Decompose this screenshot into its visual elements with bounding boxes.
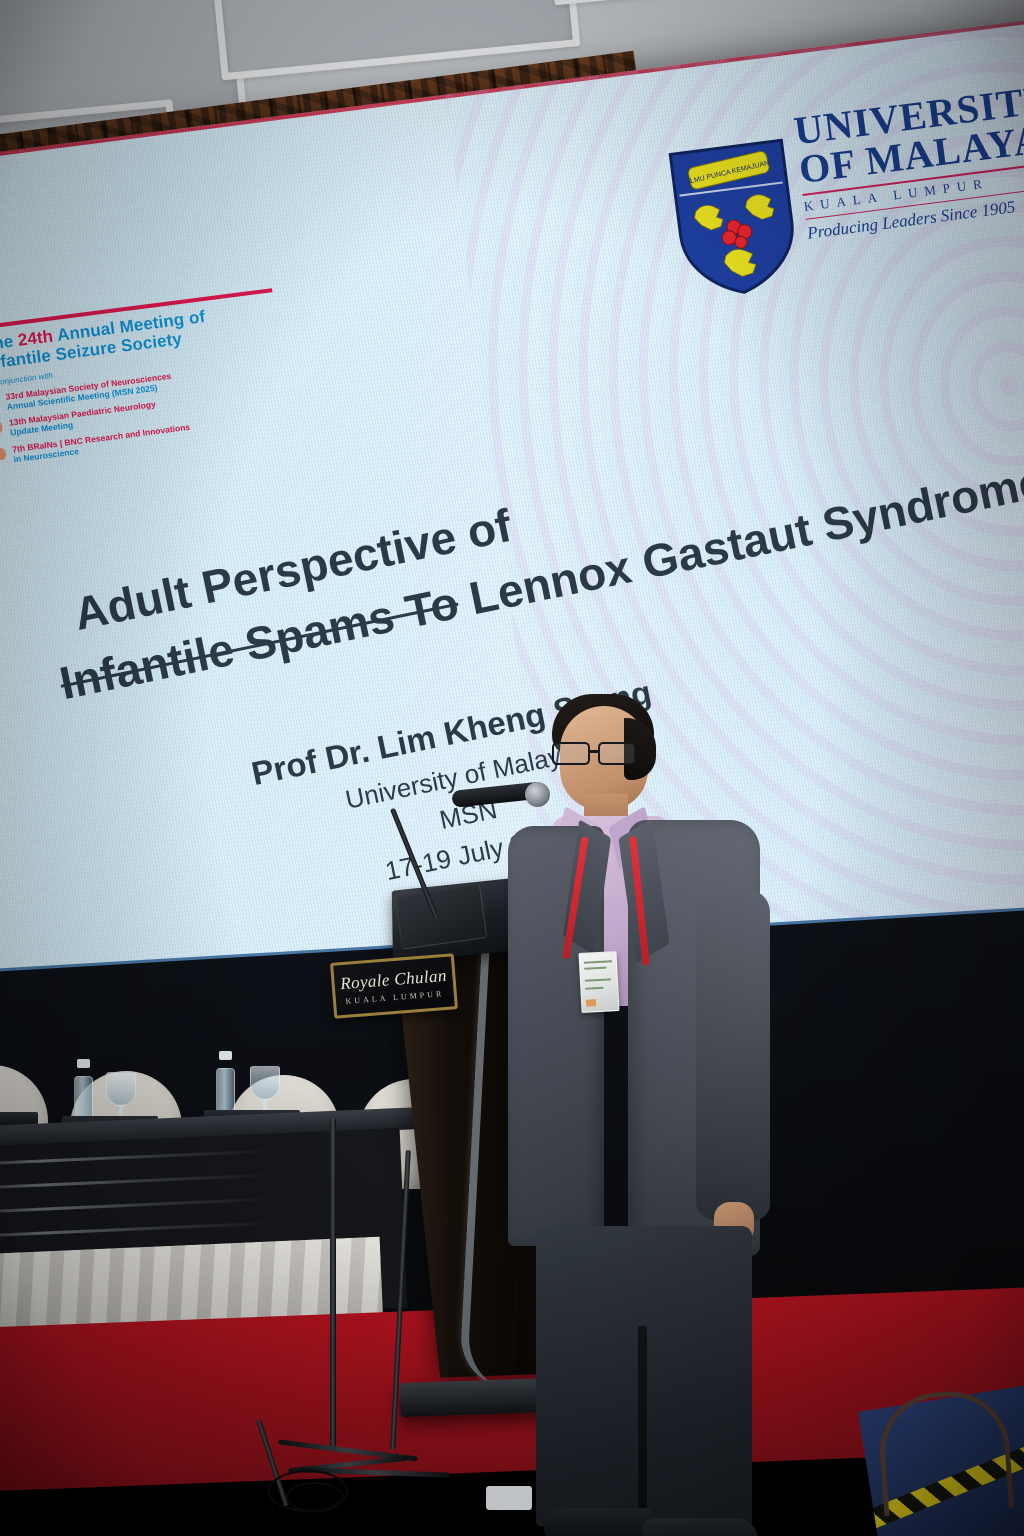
venue-plaque-name: Royale Chulan bbox=[340, 966, 448, 991]
presenter-person bbox=[500, 690, 800, 1500]
presenter-shoe-left bbox=[544, 1508, 654, 1536]
glasses-right-lens bbox=[598, 742, 636, 765]
leaf-bullet-icon bbox=[0, 421, 3, 434]
presenter-glasses-icon bbox=[552, 742, 644, 766]
glass-bowl bbox=[250, 1066, 280, 1100]
glass-bowl bbox=[106, 1072, 136, 1106]
glasses-bridge bbox=[589, 750, 599, 753]
microphone-stand-pole bbox=[330, 1118, 336, 1448]
conference-photo-scene: The 24th Annual Meeting of Infantile Sei… bbox=[0, 0, 1024, 1536]
leaf-bullet-icon bbox=[0, 447, 7, 460]
presenter-right-arm bbox=[696, 890, 770, 1220]
audio-cable-coil bbox=[286, 1482, 344, 1512]
badge-text-line bbox=[585, 987, 603, 990]
trouser-leg-separation bbox=[638, 1326, 647, 1526]
university-crest-shield-icon: ILMU PUNCA KEMAJUAN bbox=[666, 136, 804, 302]
bottle-cap bbox=[77, 1059, 90, 1068]
presenter-shoe-right bbox=[642, 1518, 758, 1536]
table-slat bbox=[0, 1192, 402, 1215]
power-adapter-plug bbox=[486, 1486, 532, 1510]
table-slat bbox=[0, 1168, 401, 1191]
glasses-left-lens bbox=[552, 742, 590, 765]
badge-colour-block bbox=[586, 999, 596, 1007]
bottle-cap bbox=[219, 1051, 232, 1060]
badge-text-line bbox=[584, 960, 612, 963]
badge-text-line bbox=[584, 967, 606, 970]
table-slat bbox=[0, 1216, 404, 1239]
table-slat bbox=[0, 1144, 400, 1167]
badge-text-line bbox=[585, 978, 611, 981]
ceiling-coffer-panel bbox=[527, 0, 973, 5]
venue-plaque: Royale Chulan KUALA LUMPUR bbox=[330, 953, 458, 1019]
conference-name-badge bbox=[578, 951, 619, 1013]
